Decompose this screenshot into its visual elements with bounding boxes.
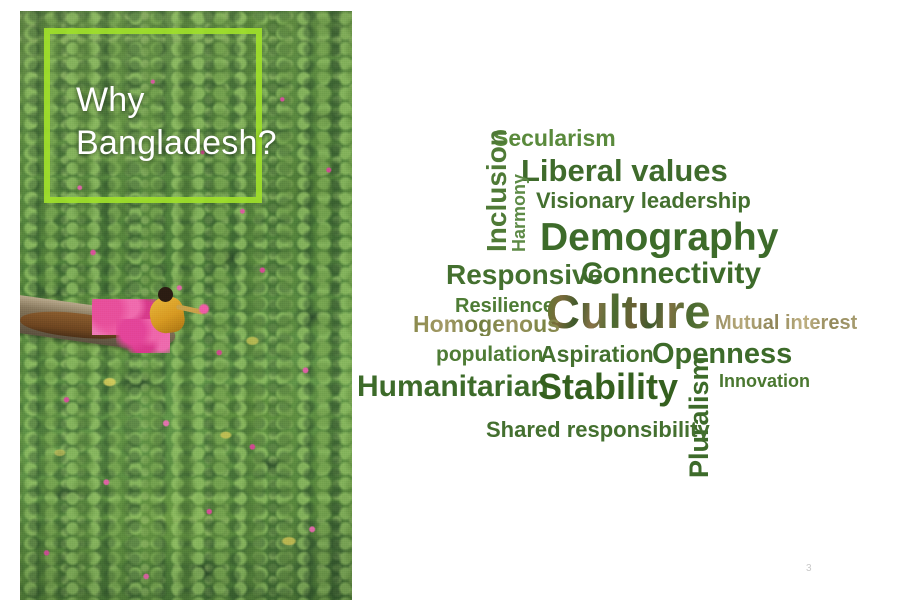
word-cloud-term-liberal-values: Liberal values (521, 155, 728, 186)
word-cloud-term-inclusion: Inclusion (483, 129, 511, 252)
page-number: 3 (806, 563, 812, 574)
slide-canvas: Why Bangladesh? SecularismInclusionLiber… (0, 0, 900, 600)
word-cloud-term-innovation: Innovation (719, 372, 810, 390)
word-cloud-term-harmony: Harmony (510, 174, 528, 252)
page-title-line-2: Bangladesh? (76, 122, 352, 165)
word-cloud-term-homogenous: Homogenous (413, 313, 560, 336)
page-title-line-1: Why (76, 79, 352, 122)
word-cloud-term-mutual-interest: Mutual interest (715, 313, 857, 333)
word-cloud-term-population: population (436, 344, 543, 365)
word-cloud-term-shared-responsibility: Shared responsibility (486, 419, 710, 441)
word-cloud: SecularismInclusionLiberal valuesHarmony… (352, 0, 900, 600)
word-cloud-term-culture: Culture (546, 288, 711, 335)
word-cloud-term-humanitarian: Humanitarian (357, 372, 549, 402)
word-cloud-term-stability: Stability (538, 369, 678, 405)
word-cloud-term-demography: Demography (540, 218, 778, 257)
word-cloud-term-openness: Openness (652, 340, 792, 369)
word-cloud-term-aspiration: Aspiration (540, 343, 654, 366)
page-title: Why Bangladesh? (76, 79, 352, 165)
water-lily-pond-photo: Why Bangladesh? (20, 11, 352, 600)
word-cloud-term-visionary-leadership: Visionary leadership (536, 190, 751, 212)
